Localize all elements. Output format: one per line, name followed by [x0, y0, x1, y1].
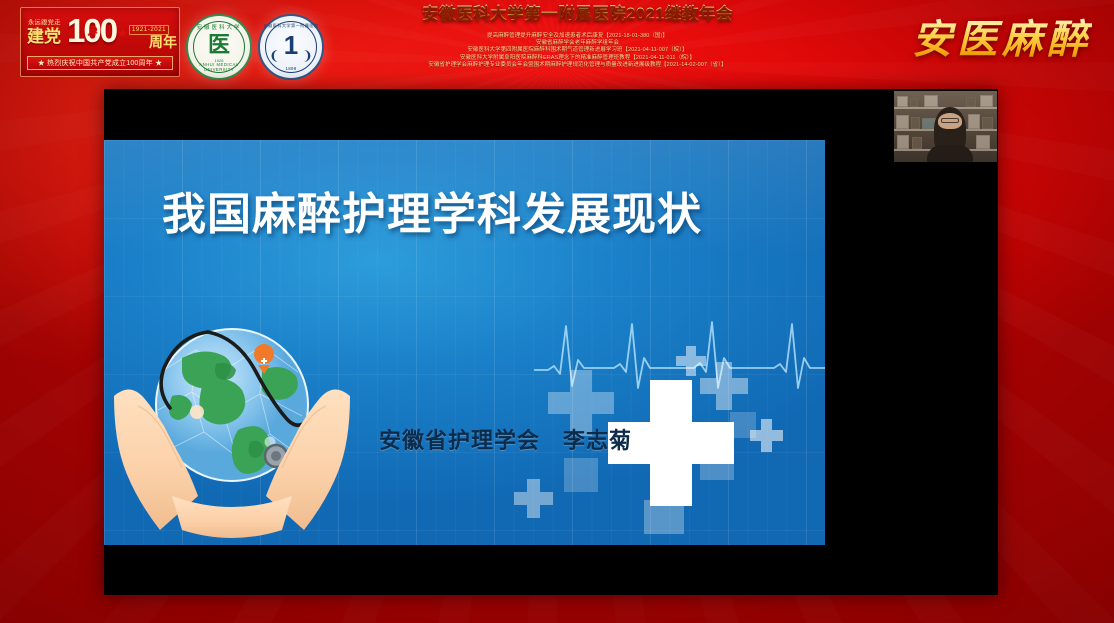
presenter-glasses-icon: [941, 118, 959, 123]
emblem-zhounian-text: 周年: [149, 35, 177, 49]
shelf-box: [910, 98, 918, 107]
slide-title: 我国麻醉护理学科发展现状: [162, 188, 702, 242]
presenter-body: [927, 145, 973, 163]
emblem-slogan-band: ★ 热烈庆祝中国共产党成立100周年 ★: [27, 56, 173, 70]
logo-top-text: 安徽医科大学第一附属医院: [260, 23, 322, 29]
emblem-top: 永远跟党走 建党 100 ☭ ★ 1921-2021 周年: [21, 11, 179, 55]
anhui-medical-university-logo: 安徽医科大学 医 1926 ANHUI MEDICAL UNIVERSITY: [186, 14, 252, 80]
hammer-sickle-icon: ☭: [85, 24, 100, 39]
presenter-webcam-thumbnail[interactable]: [893, 90, 998, 163]
logo-glyph: 1: [260, 32, 322, 58]
shelf-box: [896, 115, 909, 129]
shelf-box: [980, 95, 993, 107]
shelf-box: [976, 135, 990, 149]
banner-subtitle-line: 安徽省护理学会麻醉护理专业委员会年会暨围术期麻醉护理规范化管理与质量改进新进展级…: [405, 62, 750, 69]
shelf-box: [897, 135, 909, 149]
banner-subtitle-line: 安徽医科大学附属阜阳医院麻醉科ERAS理念下的精准麻醉管理班教程【2021-04…: [405, 55, 750, 62]
logo-glyph: 医: [188, 34, 250, 56]
conference-title: 安徽医科大学第一附属医院2021继教年会: [405, 2, 750, 26]
banner-title-block: 安徽医科大学第一附属医院2021继教年会 提高麻醉管理提升麻醉安全及加速患者术后…: [405, 2, 750, 69]
star-icon: ★: [117, 27, 128, 39]
shelf-box: [968, 114, 980, 129]
video-player-frame[interactable]: 我国麻醉护理学科发展现状 安徽省护理学会 李志菊: [104, 89, 998, 595]
party-centenary-emblem: 永远跟党走 建党 100 ☭ ★ 1921-2021 周年 ★ 热烈庆祝中国共产…: [20, 7, 180, 77]
shelf-box: [982, 117, 993, 129]
logo-top-text: 安徽医科大学: [188, 23, 250, 31]
hands-holding-globe-stethoscope-icon: [112, 310, 352, 542]
shelf-box: [924, 95, 938, 107]
banner-subtitle-list: 提高麻醉管理提升麻醉安全及加速患者术后康复【2021-18-01-380（国)】…: [405, 33, 750, 69]
shelf-box: [911, 117, 920, 129]
emblem-jiandang-text: 建党: [27, 28, 61, 45]
slide-presenter-line: 安徽省护理学会 李志菊: [379, 423, 632, 455]
livestream-screen: 永远跟党走 建党 100 ☭ ★ 1921-2021 周年 ★ 热烈庆祝中国共产…: [0, 0, 1114, 623]
presentation-slide: 我国麻醉护理学科发展现状 安徽省护理学会 李志菊: [104, 140, 825, 545]
logo-bottom-text: 1898: [260, 66, 322, 71]
shelf-box: [897, 96, 908, 107]
shelf-box: [912, 137, 922, 149]
logo-bottom-text: ANHUI MEDICAL UNIVERSITY: [188, 62, 250, 72]
emblem-band-text: ★ 热烈庆祝中国共产党成立100周年 ★: [38, 58, 163, 68]
emblem-slogan: 永远跟党走: [28, 17, 61, 27]
first-affiliated-hospital-logo: 安徽医科大学第一附属医院 ❨ ❨ 1 1898: [258, 14, 324, 80]
calligraphy-logo: 安医麻醉: [912, 18, 1092, 62]
banner-subtitle-line: 安徽医科大学第四附属医院麻醉科围术期气道管理新进展学习班【2021-04-11-…: [405, 47, 750, 54]
conference-banner: 永远跟党走 建党 100 ☭ ★ 1921-2021 周年 ★ 热烈庆祝中国共产…: [0, 0, 1114, 92]
shelf-box: [966, 97, 976, 107]
